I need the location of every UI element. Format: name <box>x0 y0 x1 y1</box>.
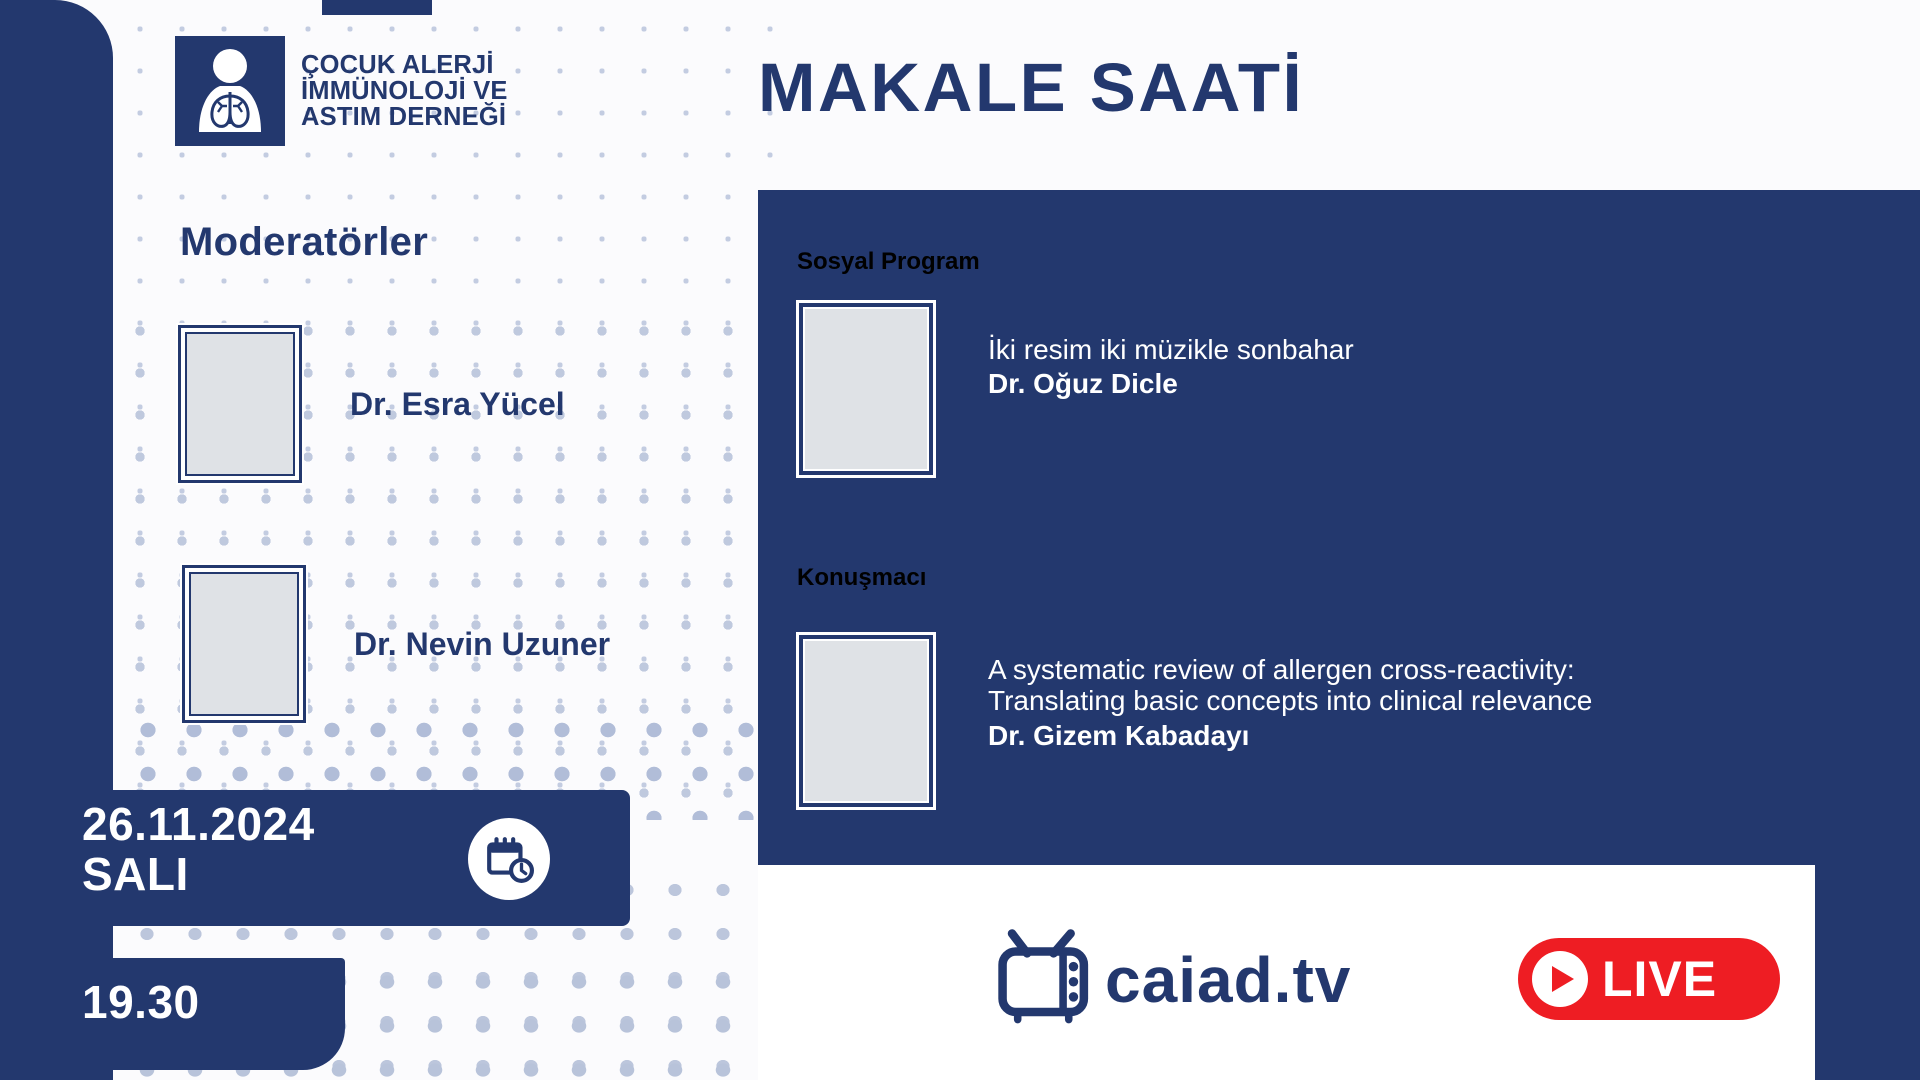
caiad-tv-brand[interactable]: caiad.tv <box>995 925 1351 1034</box>
section-heading-konusmaci: Konuşmacı <box>797 564 926 592</box>
moderator-name: Dr. Esra Yücel <box>350 386 565 423</box>
child-lungs-logo-icon <box>175 36 285 146</box>
program-entry-speaker: A systematic review of allergen cross-re… <box>796 632 1592 810</box>
logo-line-1: ÇOCUK ALERJİ <box>301 52 508 78</box>
moderators-heading: Moderatörler <box>180 220 428 265</box>
speaker-name: Dr. Gizem Kabadayı <box>988 720 1592 752</box>
live-badge[interactable]: LIVE <box>1518 938 1780 1020</box>
program-entry-social: İki resim iki müzikle sonbahar Dr. Oğuz … <box>796 300 1354 478</box>
association-logo: ÇOCUK ALERJİ İMMÜNOLOJİ VE ASTIM DERNEĞİ <box>175 36 508 146</box>
poster-canvas: ÇOCUK ALERJİ İMMÜNOLOJİ VE ASTIM DERNEĞİ… <box>0 0 1920 1080</box>
event-date: 26.11.2024 SALI <box>82 800 315 899</box>
right-accent-strip <box>1815 865 1920 1080</box>
talk-title-line-2: Translating basic concepts into clinical… <box>988 685 1592 716</box>
event-time: 19.30 <box>82 975 200 1029</box>
page-title: MAKALE SAATİ <box>758 48 1304 127</box>
moderator-item: Dr. Esra Yücel <box>178 325 565 483</box>
portrait-nevin-uzuner <box>182 565 306 723</box>
portrait-oguz-dicle <box>796 300 936 478</box>
moderator-name: Dr. Nevin Uzuner <box>354 626 610 663</box>
brand-wordmark: caiad.tv <box>1105 948 1351 1012</box>
speaker-name: Dr. Oğuz Dicle <box>988 368 1354 400</box>
portrait-esra-yucel <box>178 325 302 483</box>
logo-line-3: ASTIM DERNEĞİ <box>301 104 508 130</box>
live-label: LIVE <box>1602 950 1717 1008</box>
logo-wordmark: ÇOCUK ALERJİ İMMÜNOLOJİ VE ASTIM DERNEĞİ <box>301 52 508 130</box>
event-date-value: 26.11.2024 <box>82 800 315 850</box>
logo-line-2: İMMÜNOLOJİ VE <box>301 78 508 104</box>
calendar-clock-icon <box>468 818 550 900</box>
event-day-value: SALI <box>82 850 315 900</box>
top-accent-tab <box>322 0 432 15</box>
talk-title-line-1: A systematic review of allergen cross-re… <box>988 654 1592 685</box>
retro-tv-icon <box>995 925 1099 1034</box>
play-icon <box>1532 951 1588 1007</box>
section-heading-sosyal-program: Sosyal Program <box>797 248 980 276</box>
portrait-gizem-kabadayi <box>796 632 936 810</box>
talk-title: İki resim iki müzikle sonbahar <box>988 334 1354 365</box>
moderator-item: Dr. Nevin Uzuner <box>182 565 610 723</box>
